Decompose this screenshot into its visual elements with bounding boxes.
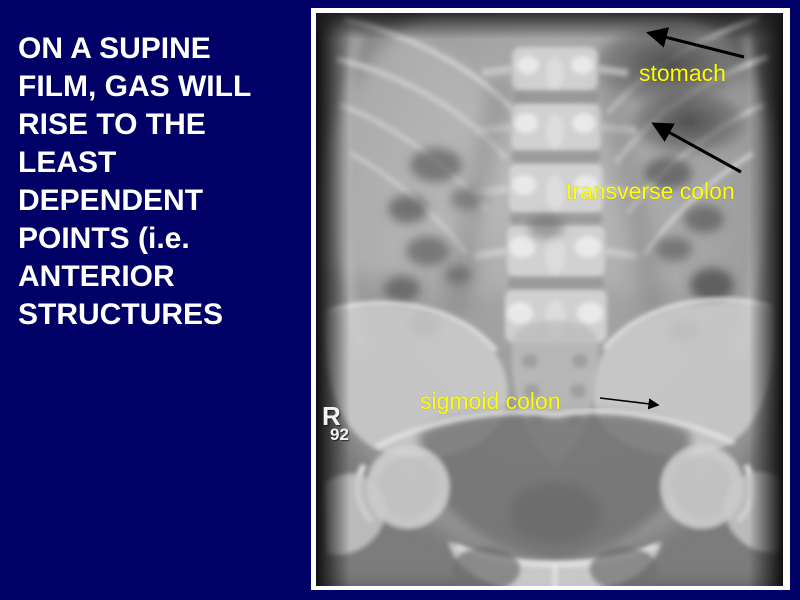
text-line: STRUCTURES bbox=[18, 296, 290, 334]
text-line: ON A SUPINE bbox=[18, 30, 290, 68]
text-line: RISE TO THE bbox=[18, 106, 290, 144]
text-line: DEPENDENT bbox=[18, 182, 290, 220]
text-line: ANTERIOR bbox=[18, 258, 290, 296]
slide-text-block: ON A SUPINE FILM, GAS WILL RISE TO THE L… bbox=[18, 30, 290, 334]
radiograph-image: stomach transverse colon sigmoid colon R… bbox=[316, 13, 783, 586]
abdominal-xray-graphic bbox=[316, 13, 783, 586]
text-line: POINTS (i.e. bbox=[18, 220, 290, 258]
text-line: LEAST bbox=[18, 144, 290, 182]
radiograph-frame: stomach transverse colon sigmoid colon R… bbox=[311, 8, 790, 590]
text-line: FILM, GAS WILL bbox=[18, 68, 290, 106]
slide-canvas: ON A SUPINE FILM, GAS WILL RISE TO THE L… bbox=[0, 0, 800, 600]
